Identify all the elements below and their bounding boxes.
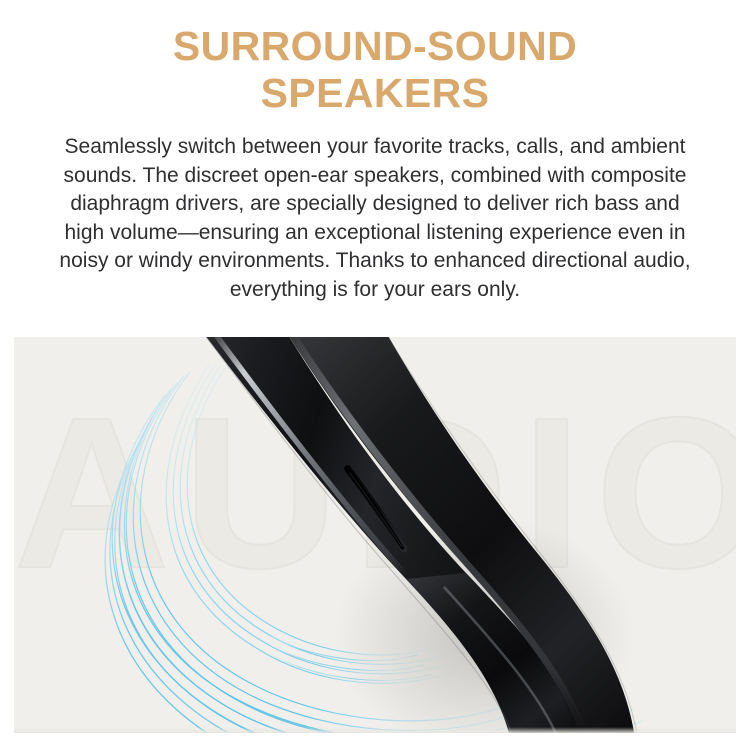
product-elbow-highlight bbox=[444, 587, 560, 733]
product-band-face bbox=[282, 337, 636, 733]
photo-stage: AUDIO bbox=[14, 337, 736, 733]
product-image bbox=[14, 337, 736, 733]
page-title-line-2: SPEAKERS bbox=[0, 70, 750, 117]
panel-bottom-fade bbox=[14, 727, 736, 733]
product-band-lower bbox=[406, 573, 590, 733]
sound-wave-arcs bbox=[14, 337, 736, 733]
body-paragraph: Seamlessly switch between your favorite … bbox=[51, 133, 699, 304]
product-face-sheen bbox=[290, 337, 586, 733]
product-photo-panel: AUDIO bbox=[14, 337, 736, 733]
audio-watermark: AUDIO bbox=[14, 385, 736, 600]
page-title-line-1: SURROUND-SOUND bbox=[0, 23, 750, 70]
body-copy: Seamlessly switch between your favorite … bbox=[51, 133, 699, 304]
product-right-rim-light bbox=[382, 337, 638, 733]
page-title: SURROUND-SOUND SPEAKERS bbox=[0, 23, 750, 117]
speaker-grille-slot bbox=[348, 469, 405, 550]
copy-block: SURROUND-SOUND SPEAKERS Seamlessly switc… bbox=[0, 0, 750, 337]
product-band-upper bbox=[197, 337, 588, 733]
product-rim-light bbox=[199, 337, 514, 733]
product-edge-highlight bbox=[210, 337, 406, 575]
product-feature-page: SURROUND-SOUND SPEAKERS Seamlessly switc… bbox=[0, 0, 750, 750]
